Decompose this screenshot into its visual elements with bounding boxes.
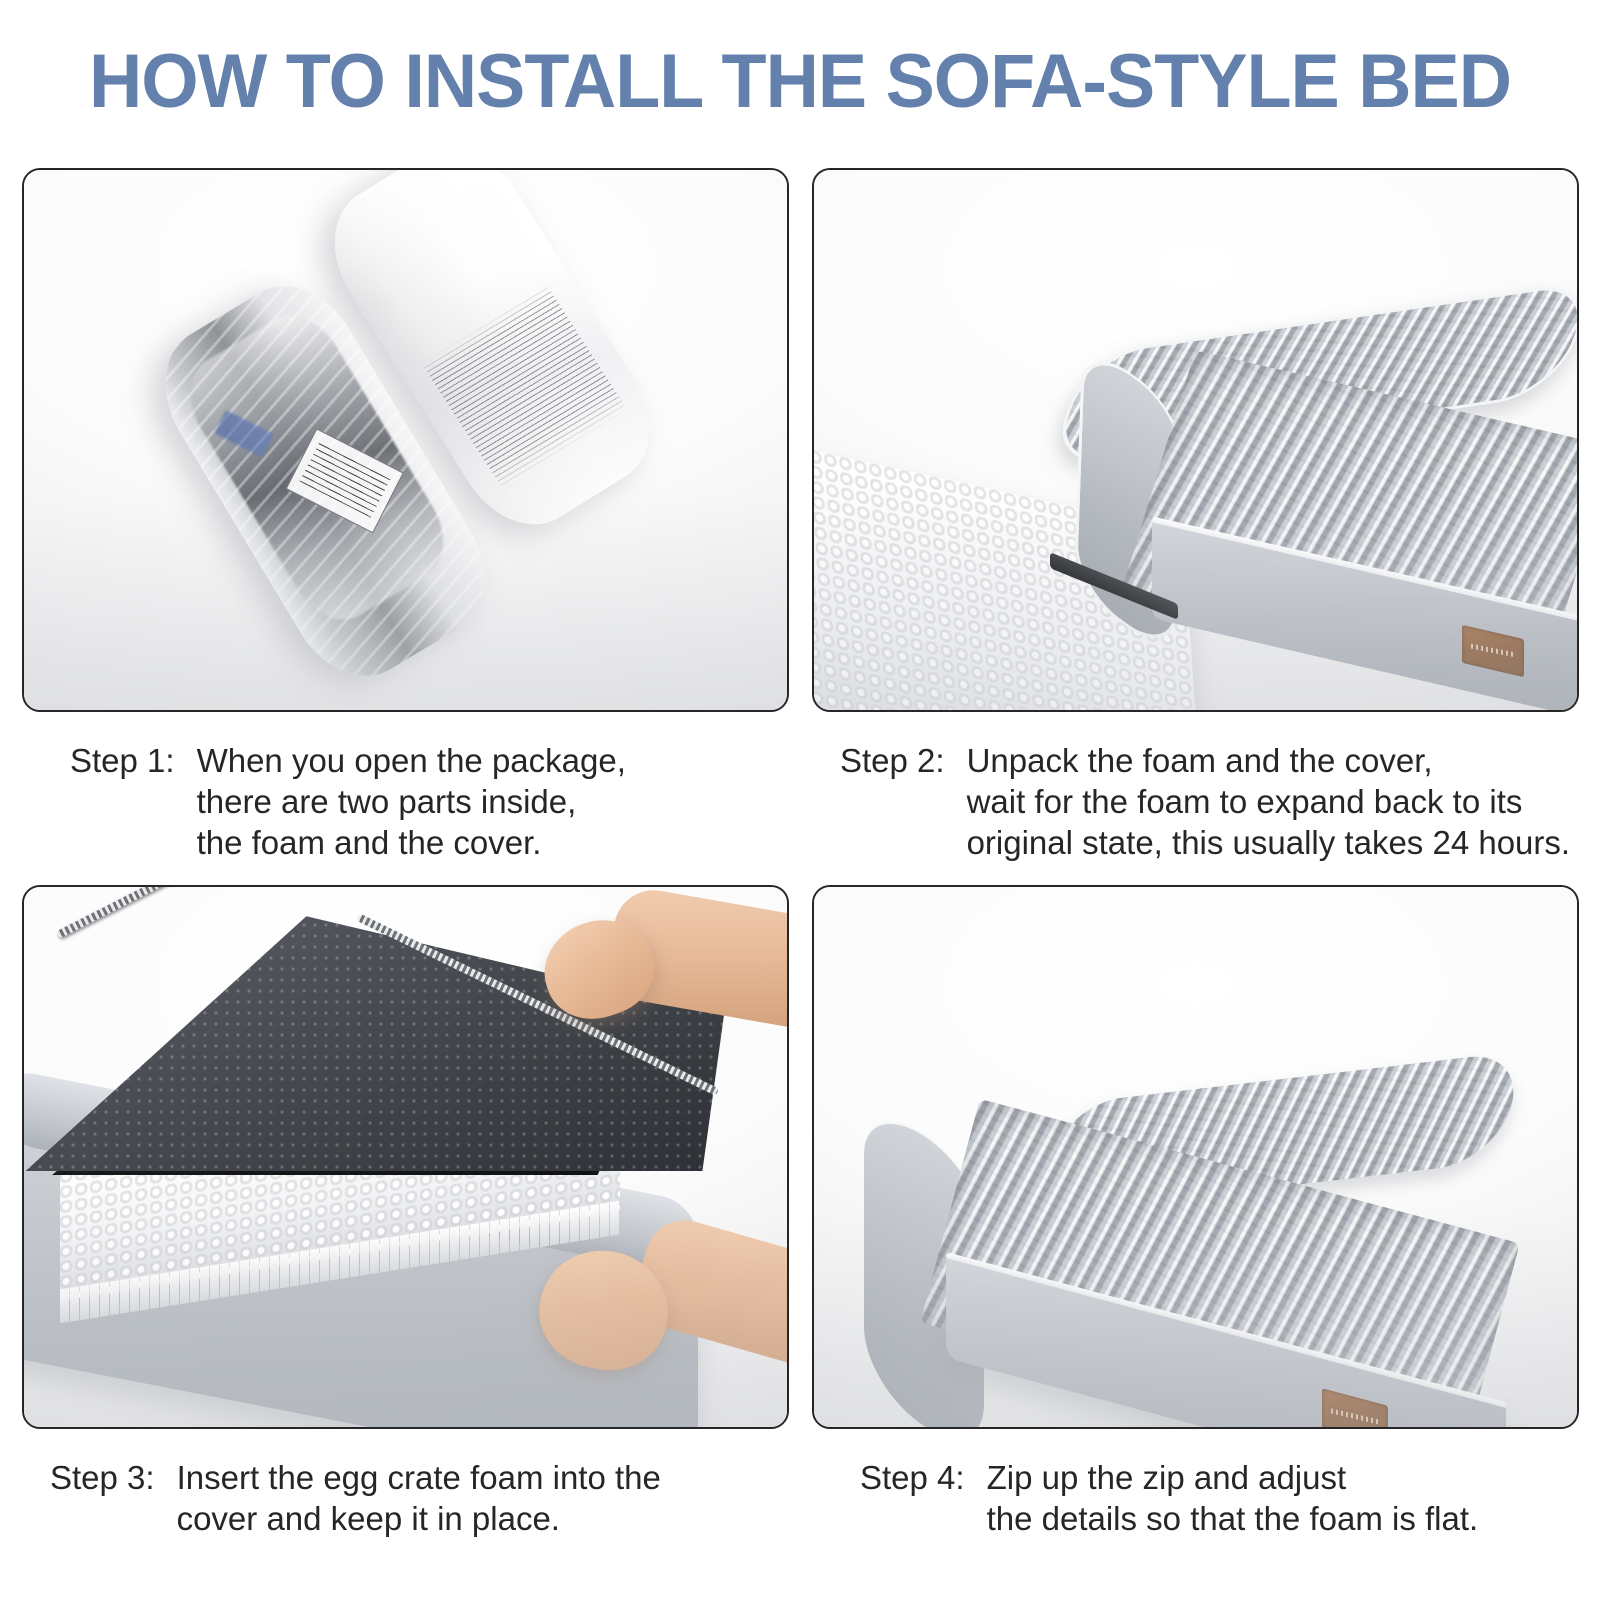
base-piping: [1152, 516, 1579, 624]
page-title: HOW TO INSTALL THE SOFA-STYLE BED: [24, 38, 1576, 125]
step-2-text: Unpack the foam and the cover, wait for …: [967, 740, 1575, 863]
steps-grid: Step 1: When you open the package, there…: [0, 168, 1600, 1539]
seat-surface: [1121, 350, 1579, 690]
side-bolster: [864, 1094, 984, 1429]
steps-row-bottom: Step 3: Insert the egg crate foam into t…: [0, 885, 1600, 1539]
step-cell-3: Step 3: Insert the egg crate foam into t…: [22, 885, 785, 1539]
brand-leather-tag: [1322, 1388, 1388, 1429]
step-1-line-3: the foam and the cover.: [197, 822, 785, 863]
step-4-line-2: the details so that the foam is flat.: [987, 1498, 1575, 1539]
brand-leather-tag: [1462, 625, 1524, 677]
base-piping: [946, 1252, 1506, 1411]
bed-base: [1152, 522, 1579, 712]
step-1-line-1: When you open the package,: [197, 740, 785, 781]
bed-base: [946, 1258, 1506, 1429]
step-2-line-2: wait for the foam to expand back to its: [967, 781, 1575, 822]
step-2-line-3: original state, this usually takes 24 ho…: [967, 822, 1575, 863]
step-2-image-panel: [812, 168, 1579, 712]
foam-edge-teeth: [60, 1201, 620, 1324]
step-4-line-1: Zip up the zip and adjust: [987, 1457, 1575, 1498]
step-3-caption: Step 3: Insert the egg crate foam into t…: [22, 1429, 785, 1539]
step-cell-4: Step 4: Zip up the zip and adjust the de…: [812, 885, 1575, 1539]
steps-row-top: Step 1: When you open the package, there…: [0, 168, 1600, 863]
step-cell-1: Step 1: When you open the package, there…: [22, 168, 785, 863]
step-cell-2: Step 2: Unpack the foam and the cover, w…: [812, 168, 1575, 863]
step-3-line-1: Insert the egg crate foam into the: [177, 1457, 785, 1498]
finished-sofa-bed-icon: [854, 1077, 1544, 1407]
finished-bed-photo: [814, 887, 1577, 1427]
packaged-rolls-photo: [24, 170, 787, 710]
step-2-caption: Step 2: Unpack the foam and the cover, w…: [812, 712, 1575, 863]
step-4-text: Zip up the zip and adjust the details so…: [987, 1457, 1575, 1539]
hand-lower: [529, 1239, 679, 1381]
step-4-image-panel: [812, 885, 1579, 1429]
step-1-caption: Step 1: When you open the package, there…: [22, 712, 785, 863]
step-2-label: Step 2:: [840, 740, 967, 781]
step-4-caption: Step 4: Zip up the zip and adjust the de…: [812, 1429, 1575, 1539]
sofa-bed-cover-icon: [1092, 316, 1570, 676]
step-1-text: When you open the package, there are two…: [197, 740, 785, 863]
step-1-line-2: there are two parts inside,: [197, 781, 785, 822]
step-1-image-panel: [22, 168, 789, 712]
step-3-image-panel: [22, 885, 789, 1429]
forearm-lower: [627, 1211, 789, 1377]
step-4-label: Step 4:: [860, 1457, 987, 1498]
zipper-icon: [1050, 552, 1178, 620]
step-1-label: Step 1:: [70, 740, 197, 781]
step-3-line-2: cover and keep it in place.: [177, 1498, 785, 1539]
step-2-line-1: Unpack the foam and the cover,: [967, 740, 1575, 781]
step-3-text: Insert the egg crate foam into the cover…: [177, 1457, 785, 1539]
foam-and-cover-photo: [814, 170, 1577, 710]
step-3-label: Step 3:: [50, 1457, 177, 1498]
inserting-foam-photo: [24, 887, 787, 1427]
